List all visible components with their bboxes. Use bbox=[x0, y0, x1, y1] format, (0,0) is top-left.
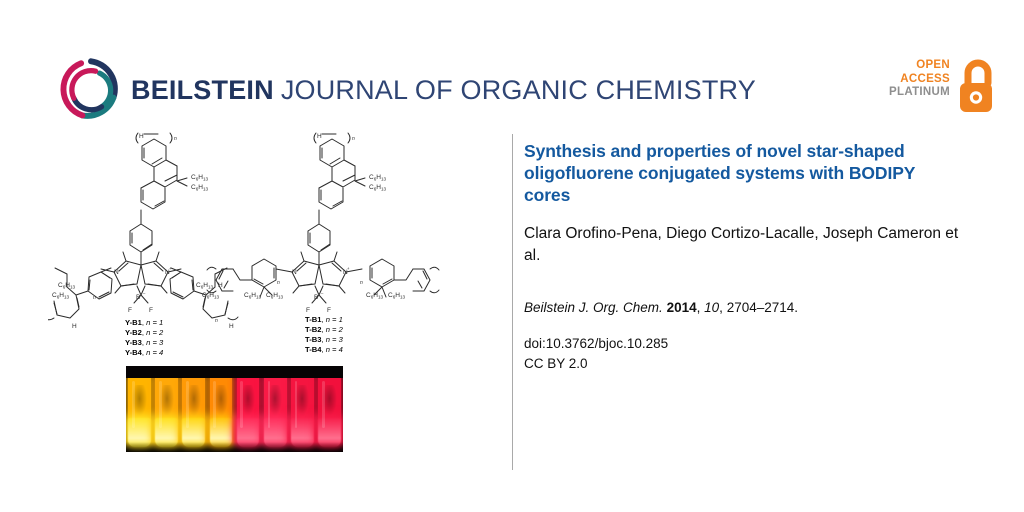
series-label-group-t: T-B1, n = 1 T-B2, n = 2 T-B3, n = 3 T-B4… bbox=[305, 315, 343, 355]
series-item-t2: T-B2, n = 2 bbox=[305, 325, 343, 335]
vial bbox=[235, 366, 262, 452]
vial-highlight bbox=[268, 381, 271, 427]
svg-text:–: – bbox=[321, 291, 324, 296]
svg-text:B: B bbox=[314, 294, 318, 301]
photo-bottom-shadow bbox=[126, 442, 343, 452]
svg-text:C6H13: C6H13 bbox=[266, 292, 284, 299]
article-citation: Beilstein J. Org. Chem. 2014, 10, 2704–2… bbox=[524, 298, 964, 318]
open-access-badge[interactable]: OPEN ACCESS PLATINUM bbox=[882, 55, 998, 119]
vial bbox=[289, 366, 316, 452]
series-n: n = 3 bbox=[326, 335, 343, 344]
svg-text:n: n bbox=[215, 318, 218, 324]
journal-title-lockup[interactable]: BEILSTEIN JOURNAL OF ORGANIC CHEMISTRY bbox=[131, 70, 756, 110]
series-label-group-y: Y-B1, n = 1 Y-B2, n = 2 Y-B3, n = 3 Y-B4… bbox=[125, 318, 163, 358]
svg-text:n: n bbox=[93, 295, 96, 301]
vial bbox=[180, 366, 207, 452]
open-access-line2: ACCESS bbox=[889, 73, 950, 87]
series-n: n = 2 bbox=[326, 325, 343, 334]
journal-name-bold: BEILSTEIN bbox=[131, 75, 274, 106]
vial-row bbox=[126, 366, 343, 452]
svg-text:F: F bbox=[306, 307, 310, 314]
svg-text:n: n bbox=[352, 136, 355, 142]
open-access-text: OPEN ACCESS PLATINUM bbox=[889, 59, 950, 100]
cover-page: BEILSTEIN JOURNAL OF ORGANIC CHEMISTRY O… bbox=[0, 0, 1024, 512]
journal-header: BEILSTEIN JOURNAL OF ORGANIC CHEMISTRY O… bbox=[0, 0, 1024, 130]
article-title: Synthesis and properties of novel star-s… bbox=[524, 140, 964, 207]
svg-text:C6H13: C6H13 bbox=[52, 292, 70, 299]
vial bbox=[207, 366, 234, 452]
citation-pages: 2704–2714. bbox=[727, 300, 798, 315]
svg-text:F: F bbox=[128, 307, 132, 314]
series-id: Y-B1 bbox=[125, 318, 142, 327]
chemical-structure-diagram: H n C6H13 C6H13 N N + B – F F C6H13 C6H1… bbox=[48, 132, 468, 382]
svg-text:+: + bbox=[347, 266, 350, 271]
article-metadata: Synthesis and properties of novel star-s… bbox=[524, 140, 964, 375]
svg-text:n: n bbox=[277, 280, 280, 286]
series-item-t4: T-B4, n = 4 bbox=[305, 345, 343, 355]
column-divider bbox=[512, 134, 513, 470]
series-n: n = 3 bbox=[146, 338, 163, 347]
svg-text:N: N bbox=[292, 269, 297, 276]
series-item-y4: Y-B4, n = 4 bbox=[125, 348, 163, 358]
series-item-y2: Y-B2, n = 2 bbox=[125, 328, 163, 338]
series-item-y1: Y-B1, n = 1 bbox=[125, 318, 163, 328]
series-item-t1: T-B1, n = 1 bbox=[305, 315, 343, 325]
svg-text:C6H13: C6H13 bbox=[366, 292, 384, 299]
article-authors: Clara Orofino-Pena, Diego Cortizo-Lacall… bbox=[524, 223, 964, 268]
series-id: Y-B3 bbox=[125, 338, 142, 347]
svg-text:H: H bbox=[317, 133, 322, 140]
svg-text:C6H13: C6H13 bbox=[202, 292, 220, 299]
series-n: n = 4 bbox=[326, 345, 343, 354]
svg-text:C6H13: C6H13 bbox=[244, 292, 262, 299]
citation-year: 2014 bbox=[667, 300, 697, 315]
series-item-y3: Y-B3, n = 3 bbox=[125, 338, 163, 348]
svg-text:C6H13: C6H13 bbox=[191, 184, 209, 191]
svg-text:C6H13: C6H13 bbox=[58, 282, 76, 289]
series-n: n = 4 bbox=[146, 348, 163, 357]
beilstein-swirl-logo-icon[interactable] bbox=[58, 56, 124, 122]
article-license[interactable]: CC BY 2.0 bbox=[524, 354, 964, 374]
open-access-line1: OPEN bbox=[889, 59, 950, 73]
open-access-line3: PLATINUM bbox=[889, 86, 950, 100]
svg-text:n: n bbox=[360, 280, 363, 286]
svg-text:H: H bbox=[139, 133, 144, 140]
svg-text:C6H13: C6H13 bbox=[388, 292, 406, 299]
open-lock-icon bbox=[954, 57, 998, 115]
series-n: n = 1 bbox=[326, 315, 343, 324]
vial-highlight bbox=[186, 381, 189, 427]
svg-text:C6H13: C6H13 bbox=[369, 174, 387, 181]
journal-name-regular: JOURNAL OF ORGANIC CHEMISTRY bbox=[281, 75, 756, 106]
vial bbox=[153, 366, 180, 452]
article-doi[interactable]: doi:10.3762/bjoc.10.285 bbox=[524, 334, 964, 354]
svg-text:H: H bbox=[229, 323, 234, 330]
photo-top-shadow bbox=[126, 366, 343, 378]
vial-highlight bbox=[322, 381, 325, 427]
svg-text:F: F bbox=[327, 307, 331, 314]
series-id: T-B1 bbox=[305, 315, 321, 324]
series-n: n = 2 bbox=[146, 328, 163, 337]
svg-text:F: F bbox=[149, 307, 153, 314]
fluorescent-vials-photo bbox=[126, 366, 343, 452]
series-id: T-B3 bbox=[305, 335, 321, 344]
series-id: Y-B2 bbox=[125, 328, 142, 337]
svg-text:H: H bbox=[218, 282, 223, 289]
citation-volume: 10 bbox=[704, 300, 719, 315]
citation-journal: Beilstein J. Org. Chem. bbox=[524, 300, 663, 315]
svg-text:H: H bbox=[72, 323, 77, 330]
svg-text:N: N bbox=[114, 269, 119, 276]
series-id: Y-B4 bbox=[125, 348, 142, 357]
vial-highlight bbox=[240, 381, 243, 427]
vial bbox=[262, 366, 289, 452]
vial-highlight bbox=[132, 381, 135, 427]
series-item-t3: T-B3, n = 3 bbox=[305, 335, 343, 345]
svg-text:n: n bbox=[174, 136, 177, 142]
svg-text:C6H13: C6H13 bbox=[191, 174, 209, 181]
series-id: T-B4 bbox=[305, 345, 321, 354]
vial-highlight bbox=[295, 381, 298, 427]
vial-highlight bbox=[213, 381, 216, 427]
series-n: n = 1 bbox=[146, 318, 163, 327]
svg-text:C6H13: C6H13 bbox=[196, 282, 214, 289]
vial bbox=[126, 366, 153, 452]
svg-text:–: – bbox=[143, 291, 146, 296]
vial-highlight bbox=[159, 381, 162, 427]
svg-text:B: B bbox=[136, 294, 140, 301]
svg-text:C6H13: C6H13 bbox=[369, 184, 387, 191]
series-id: T-B2 bbox=[305, 325, 321, 334]
vial bbox=[316, 366, 343, 452]
